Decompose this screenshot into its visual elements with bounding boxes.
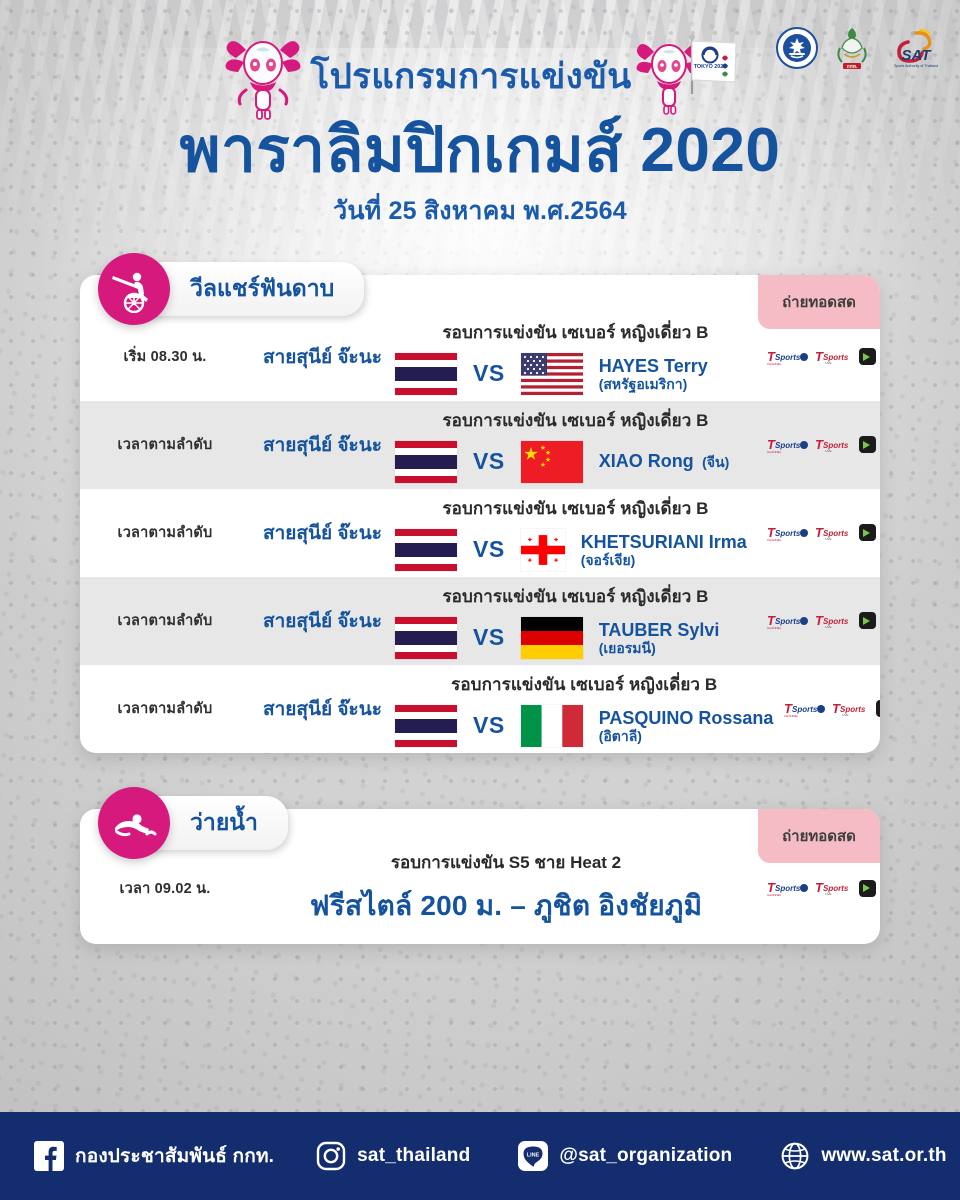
footer-label-website: www.sat.or.th [821,1145,946,1167]
opponent-info: KHETSURIANI Irma (จอร์เจีย) [581,532,747,569]
swimming-icon [98,787,170,859]
tsports-red-logo[interactable]: T Sports LIVE [815,880,853,896]
svg-text:Sports: Sports [775,884,801,893]
match-detail: รอบการแข่งขัน เซเบอร์ หญิงเดี่ยว B VS [395,495,762,571]
someity-flag-mascot-icon: TOKYO 2020 [636,30,740,122]
match-time: เวลา 09.02 น. [80,877,250,900]
tsports-blue-logo[interactable]: T Sports CHANNEL [767,437,809,453]
title-row: โปรแกรมการแข่งขัน [0,28,960,124]
sport-header-wheelchair-fencing[interactable]: วีลแชร์ฟันดาบ [98,253,364,325]
opponent-info: HAYES Terry (สหรัฐอเมริกา) [599,356,708,393]
fencing-card: ถ่ายทอดสด เริ่ม 08.30 น. สายสุนีย์ จ๊ะนะ… [80,275,880,753]
footer-item-website[interactable]: www.sat.or.th [780,1141,946,1171]
tsports-red-logo[interactable]: T Sports LIVE [815,349,853,365]
tsports-red-logo[interactable]: T Sports LIVE [815,525,853,541]
china-flag [521,441,583,483]
svg-text:Sports: Sports [775,617,801,626]
footer-item-line[interactable]: LINE @sat_organization [518,1141,732,1171]
italy-flag [521,705,583,747]
broadcast-channels[interactable]: T Sports CHANNEL T Sports LIVE [779,700,880,717]
match-detail: รอบการแข่งขัน เซเบอร์ หญิงเดี่ยว B VS [395,407,762,483]
svg-text:CHANNEL: CHANNEL [767,893,782,896]
usa-flag [521,353,583,395]
tsports-red-logo[interactable]: T Sports LIVE [815,437,853,453]
sport-name: วีลแชร์ฟันดาบ [190,275,334,301]
footer-item-instagram[interactable]: sat_thailand [316,1141,470,1171]
svg-text:LIVE: LIVE [825,537,832,541]
svg-text:CHANNEL: CHANNEL [767,362,782,365]
tsports-app-icon[interactable] [876,700,880,717]
svg-text:TOKYO 2020: TOKYO 2020 [693,64,726,70]
sport-header-swimming[interactable]: ว่ายน้ำ [98,787,288,859]
opponent-country: (เยอรมนี) [599,640,720,656]
svg-text:Sports: Sports [775,529,801,538]
round-label: รอบการแข่งขัน เซเบอร์ หญิงเดี่ยว B [395,319,756,346]
tsports-blue-logo[interactable]: T Sports CHANNEL [767,880,809,896]
match-time: เวลาตามลำดับ [80,433,250,456]
svg-text:LIVE: LIVE [825,892,832,896]
versus-line: VS PASQUINO Rossana (อิตาลี) [395,705,773,747]
svg-text:LIVE: LIVE [825,361,832,365]
tsports-app-icon[interactable] [859,880,876,897]
broadcast-channels[interactable]: T Sports CHANNEL T Sports LIVE [762,524,880,541]
athlete-name: สายสุนีย์ จ๊ะนะ [250,606,395,636]
svg-text:Sports: Sports [775,441,801,450]
thailand-flag [395,441,457,483]
footer-label-facebook: กองประชาสัมพันธ์ กกท. [75,1141,274,1171]
table-row[interactable]: เวลาตามลำดับ สายสุนีย์ จ๊ะนะ รอบการแข่งข… [80,665,880,753]
broadcast-channels[interactable]: T Sports CHANNEL T Sports LIVE [762,612,880,629]
live-broadcast-label: ถ่ายทอดสด [782,824,856,848]
svg-text:CHANNEL: CHANNEL [767,450,782,453]
table-row[interactable]: เวลาตามลำดับ สายสุนีย์ จ๊ะนะ รอบการแข่งข… [80,489,880,577]
instagram-icon[interactable] [316,1141,346,1171]
vs-label: VS [473,360,505,387]
wheelchair-fencing-icon [98,253,170,325]
thailand-flag [395,705,457,747]
live-broadcast-label: ถ่ายทอดสด [782,290,856,314]
live-broadcast-badge-fencing: ถ่ายทอดสด [758,275,880,329]
svg-text:LIVE: LIVE [825,449,832,453]
svg-text:CHANNEL: CHANNEL [767,538,782,541]
opponent-name: TAUBER Sylvi [599,620,720,641]
athlete-name: สายสุนีย์ จ๊ะนะ [250,430,395,460]
versus-line: VS [395,529,756,571]
match-time: เวลาตามลำดับ [80,521,250,544]
someity-mascot-icon [220,30,306,122]
versus-line: VS TAUBER Sylvi (เยอรมนี) [395,617,756,659]
broadcast-channels[interactable]: T Sports CHANNEL T Sports LIVE [762,436,880,453]
svg-text:LIVE: LIVE [825,625,832,629]
sport-name: ว่ายน้ำ [190,809,258,835]
match-time: เวลาตามลำดับ [80,609,250,632]
live-broadcast-badge-swimming: ถ่ายทอดสด [758,809,880,863]
round-label: รอบการแข่งขัน S5 ชาย Heat 2 [250,849,762,876]
broadcast-channels[interactable]: T Sports CHANNEL T Sports LIVE [762,348,880,365]
round-label: รอบการแข่งขัน เซเบอร์ หญิงเดี่ยว B [395,583,756,610]
footer-social-bar: กองประชาสัมพันธ์ กกท. sat_thailand LINE … [0,1112,960,1200]
facebook-icon[interactable] [34,1141,64,1171]
tsports-app-icon[interactable] [859,524,876,541]
tsports-blue-logo[interactable]: T Sports CHANNEL [767,525,809,541]
opponent-name: KHETSURIANI Irma [581,532,747,553]
poster-subtitle: โปรแกรมการแข่งขัน [310,59,631,94]
opponent-name: HAYES Terry [599,356,708,377]
opponent-info: XIAO Rong (จีน) [599,451,730,472]
athlete-name: สายสุนีย์ จ๊ะนะ [250,694,395,724]
globe-icon[interactable] [780,1141,810,1171]
match-detail: รอบการแข่งขัน เซเบอร์ หญิงเดี่ยว B VS [395,671,779,747]
round-label: รอบการแข่งขัน เซเบอร์ หญิงเดี่ยว B [395,495,756,522]
opponent-name: XIAO Rong [599,451,694,471]
footer-label-line: @sat_organization [559,1145,732,1167]
svg-text:LINE: LINE [527,1152,540,1158]
event-name: ฟรีสไตล์ 200 ม. – ภูชิต อิงชัยภูมิ [250,884,762,928]
tsports-blue-logo[interactable]: T Sports CHANNEL [767,349,809,365]
svg-text:Sports: Sports [792,705,818,714]
thailand-flag [395,617,457,659]
tsports-red-logo[interactable]: T Sports LIVE [832,701,870,717]
poster-header: โปรแกรมการแข่งขัน [0,0,960,231]
poster-date: วันที่ 25 สิงหาคม พ.ศ.2564 [0,191,960,231]
match-detail: รอบการแข่งขัน เซเบอร์ หญิงเดี่ยว B VS [395,319,762,395]
match-detail: รอบการแข่งขัน เซเบอร์ หญิงเดี่ยว B VS [395,583,762,659]
versus-line: VS [395,353,756,395]
athlete-name: สายสุนีย์ จ๊ะนะ [250,518,395,548]
match-time: เริ่ม 08.30 น. [80,345,250,368]
footer-item-facebook[interactable]: กองประชาสัมพันธ์ กกท. [34,1141,274,1171]
thailand-flag [395,529,457,571]
tsports-blue-logo[interactable]: T Sports CHANNEL [784,701,826,717]
opponent-info: TAUBER Sylvi (เยอรมนี) [599,620,720,657]
tsports-blue-logo[interactable]: T Sports CHANNEL [767,613,809,629]
sport-section-wheelchair-fencing: ถ่ายทอดสด เริ่ม 08.30 น. สายสุนีย์ จ๊ะนะ… [80,275,880,753]
round-label: รอบการแข่งขัน เซเบอร์ หญิงเดี่ยว B [395,671,773,698]
opponent-country: (สหรัฐอเมริกา) [599,376,708,392]
sport-name-pill: วีลแชร์ฟันดาบ [146,262,364,316]
vs-label: VS [473,448,505,475]
broadcast-channels[interactable]: T Sports CHANNEL T Sports LIVE [762,880,880,897]
opponent-info: PASQUINO Rossana (อิตาลี) [599,708,774,745]
match-time: เวลาตามลำดับ [80,697,250,720]
svg-text:Sports: Sports [775,353,801,362]
tsports-red-logo[interactable]: T Sports LIVE [815,613,853,629]
svg-text:CHANNEL: CHANNEL [784,714,799,717]
fencing-match-rows: เริ่ม 08.30 น. สายสุนีย์ จ๊ะนะ รอบการแข่… [80,275,880,753]
tsports-app-icon[interactable] [859,436,876,453]
svg-text:LIVE: LIVE [842,713,849,717]
opponent-name: PASQUINO Rossana [599,708,774,729]
opponent-country: (จอร์เจีย) [581,552,747,568]
poster-page: กกท. SAT Sports Authority of Thailand [0,0,960,1200]
tsports-app-icon[interactable] [859,348,876,365]
germany-flag [521,617,583,659]
table-row[interactable]: เวลาตามลำดับ สายสุนีย์ จ๊ะนะ รอบการแข่งข… [80,577,880,665]
round-label: รอบการแข่งขัน เซเบอร์ หญิงเดี่ยว B [395,407,756,434]
vs-label: VS [473,624,505,651]
athlete-name: สายสุนีย์ จ๊ะนะ [250,342,395,372]
versus-line: VS [395,441,756,483]
opponent-country: (จีน) [702,454,729,470]
swim-detail: รอบการแข่งขัน S5 ชาย Heat 2 ฟรีสไตล์ 200… [250,849,762,928]
table-row[interactable]: เวลาตามลำดับ สายสุนีย์ จ๊ะนะ รอบการแข่งข… [80,401,880,489]
vs-label: VS [473,536,505,563]
footer-label-instagram: sat_thailand [357,1145,470,1167]
line-icon[interactable]: LINE [518,1141,548,1171]
page-title: พาราลิมปิกเกมส์ 2020 [0,118,960,185]
vs-label: VS [473,712,505,739]
sport-section-swimming: ถ่ายทอดสด เวลา 09.02 น. รอบการแข่งขัน S5… [80,809,880,944]
opponent-country: (อิตาลี) [599,728,774,744]
tsports-app-icon[interactable] [859,612,876,629]
svg-text:CHANNEL: CHANNEL [767,626,782,629]
thailand-flag [395,353,457,395]
georgia-flag [521,529,565,571]
